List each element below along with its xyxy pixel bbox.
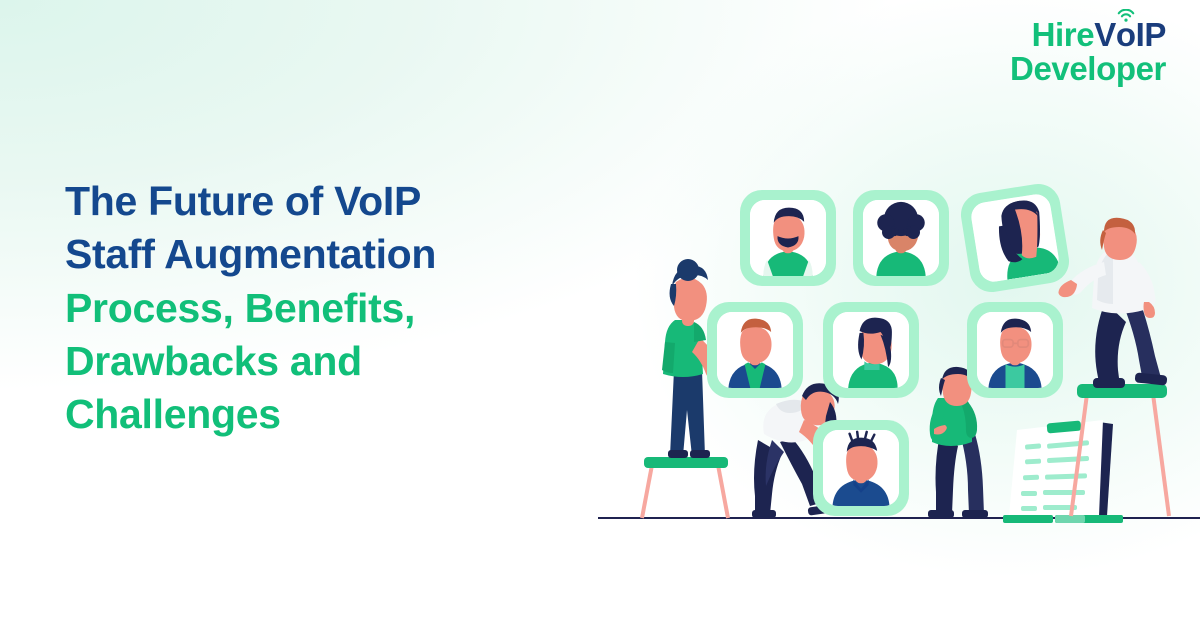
avatar-card-5[interactable]	[823, 302, 919, 398]
avatar-long-hair-woman-icon	[969, 192, 1061, 284]
avatar-man-suit-tie-icon	[717, 312, 793, 388]
avatar-card-7[interactable]	[813, 420, 909, 516]
avatar-card-4-inner	[717, 312, 793, 388]
avatar-short-hair-woman-icon	[833, 312, 909, 388]
avatar-bearded-man-icon	[750, 200, 826, 276]
headline: The Future of VoIP Staff Augmentation Pr…	[65, 175, 585, 441]
avatar-card-4[interactable]	[707, 302, 803, 398]
headline-line-3: Process, Benefits,	[65, 282, 585, 335]
headline-line-4: Drawbacks and	[65, 335, 585, 388]
avatar-card-5-inner	[833, 312, 909, 388]
character-man-on-platform	[1057, 218, 1185, 520]
avatar-card-7-inner	[823, 430, 899, 506]
headline-line-2: Staff Augmentation	[65, 228, 585, 281]
avatar-card-2-inner	[863, 200, 939, 276]
avatar-spiky-hair-man-icon	[823, 430, 899, 506]
avatar-card-3-inner	[969, 192, 1061, 284]
headline-line-1: The Future of VoIP	[65, 175, 585, 228]
avatar-card-1[interactable]	[740, 190, 836, 286]
headline-line-5: Challenges	[65, 388, 585, 441]
avatar-card-3[interactable]	[958, 181, 1072, 295]
avatar-card-6-inner	[977, 312, 1053, 388]
avatar-man-glasses-icon	[977, 312, 1053, 388]
avatar-card-2[interactable]	[853, 190, 949, 286]
team-staff-augmentation-illustration	[585, 0, 1200, 630]
avatar-woman-afro-glasses-icon	[863, 200, 939, 276]
banner-root: HireV oIP Developer The Future of VoIP S…	[0, 0, 1200, 630]
avatar-card-1-inner	[750, 200, 826, 276]
avatar-card-6[interactable]	[967, 302, 1063, 398]
